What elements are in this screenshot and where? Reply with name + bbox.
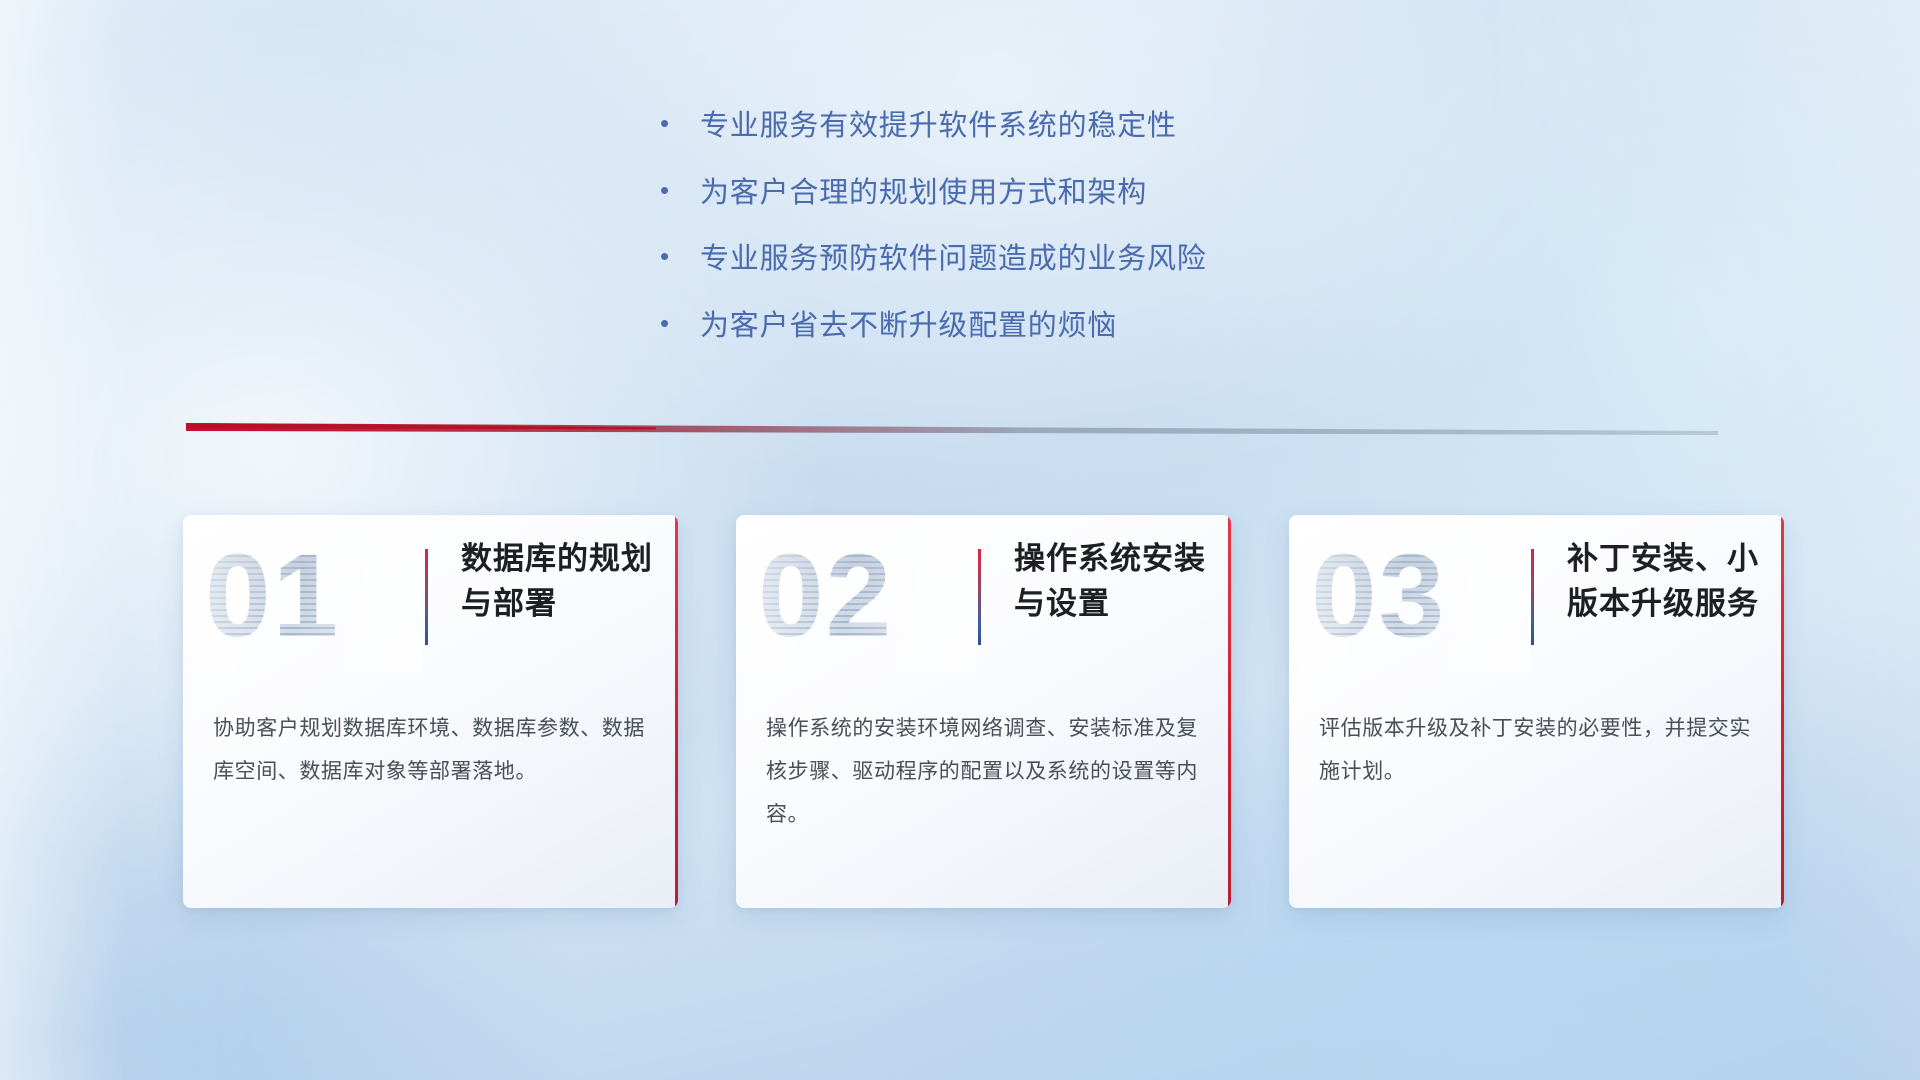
bullet-text: 专业服务预防软件问题造成的业务风险 — [700, 241, 1420, 279]
bullet-dot-icon: • — [660, 310, 700, 336]
bullet-dot-icon: • — [660, 177, 700, 203]
card-description: 评估版本升级及补丁安装的必要性，并提交实施计划。 — [1319, 707, 1754, 793]
service-card[interactable]: 02 操作系统安装与设置 操作系统的安装环境网络调查、安装标准及复核步骤、驱动程… — [736, 515, 1231, 908]
service-card[interactable]: 01 数据库的规划与部署 协助客户规划数据库环境、数据库参数、数据库空间、数据库… — [183, 515, 678, 908]
bullet-dot-icon: • — [660, 110, 700, 136]
section-divider — [186, 422, 1718, 438]
card-title-divider — [425, 549, 428, 645]
list-item: • 专业服务有效提升软件系统的稳定性 — [660, 108, 1420, 146]
slide-canvas: • 专业服务有效提升软件系统的稳定性 • 为客户合理的规划使用方式和架构 • 专… — [0, 0, 1920, 1080]
card-number-watermark: 03 — [1311, 537, 1446, 655]
divider-wedge-icon — [186, 422, 1718, 438]
card-header: 03 补丁安装、小版本升级服务 — [1289, 515, 1784, 683]
card-header: 02 操作系统安装与设置 — [736, 515, 1231, 683]
service-card[interactable]: 03 补丁安装、小版本升级服务 评估版本升级及补丁安装的必要性，并提交实施计划。 — [1289, 515, 1784, 908]
card-title-divider — [978, 549, 981, 645]
list-item: • 为客户合理的规划使用方式和架构 — [660, 175, 1420, 213]
card-title: 操作系统安装与设置 — [1014, 537, 1214, 627]
bullet-dot-icon: • — [660, 243, 700, 269]
card-title: 数据库的规划与部署 — [461, 537, 661, 627]
card-number-watermark: 01 — [205, 537, 340, 655]
bullet-text: 为客户合理的规划使用方式和架构 — [700, 175, 1420, 213]
card-title: 补丁安装、小版本升级服务 — [1567, 537, 1767, 627]
card-header: 01 数据库的规划与部署 — [183, 515, 678, 683]
card-title-divider — [1531, 549, 1534, 645]
list-item: • 专业服务预防软件问题造成的业务风险 — [660, 241, 1420, 279]
list-item: • 为客户省去不断升级配置的烦恼 — [660, 308, 1420, 346]
bullet-text: 专业服务有效提升软件系统的稳定性 — [700, 108, 1420, 146]
card-number-watermark: 02 — [758, 537, 893, 655]
benefits-bullet-list: • 专业服务有效提升软件系统的稳定性 • 为客户合理的规划使用方式和架构 • 专… — [660, 108, 1420, 375]
bullet-text: 为客户省去不断升级配置的烦恼 — [700, 308, 1420, 346]
card-description: 协助客户规划数据库环境、数据库参数、数据库空间、数据库对象等部署落地。 — [213, 707, 648, 793]
service-card-list: 01 数据库的规划与部署 协助客户规划数据库环境、数据库参数、数据库空间、数据库… — [183, 515, 1783, 908]
card-description: 操作系统的安装环境网络调查、安装标准及复核步骤、驱动程序的配置以及系统的设置等内… — [766, 707, 1201, 836]
